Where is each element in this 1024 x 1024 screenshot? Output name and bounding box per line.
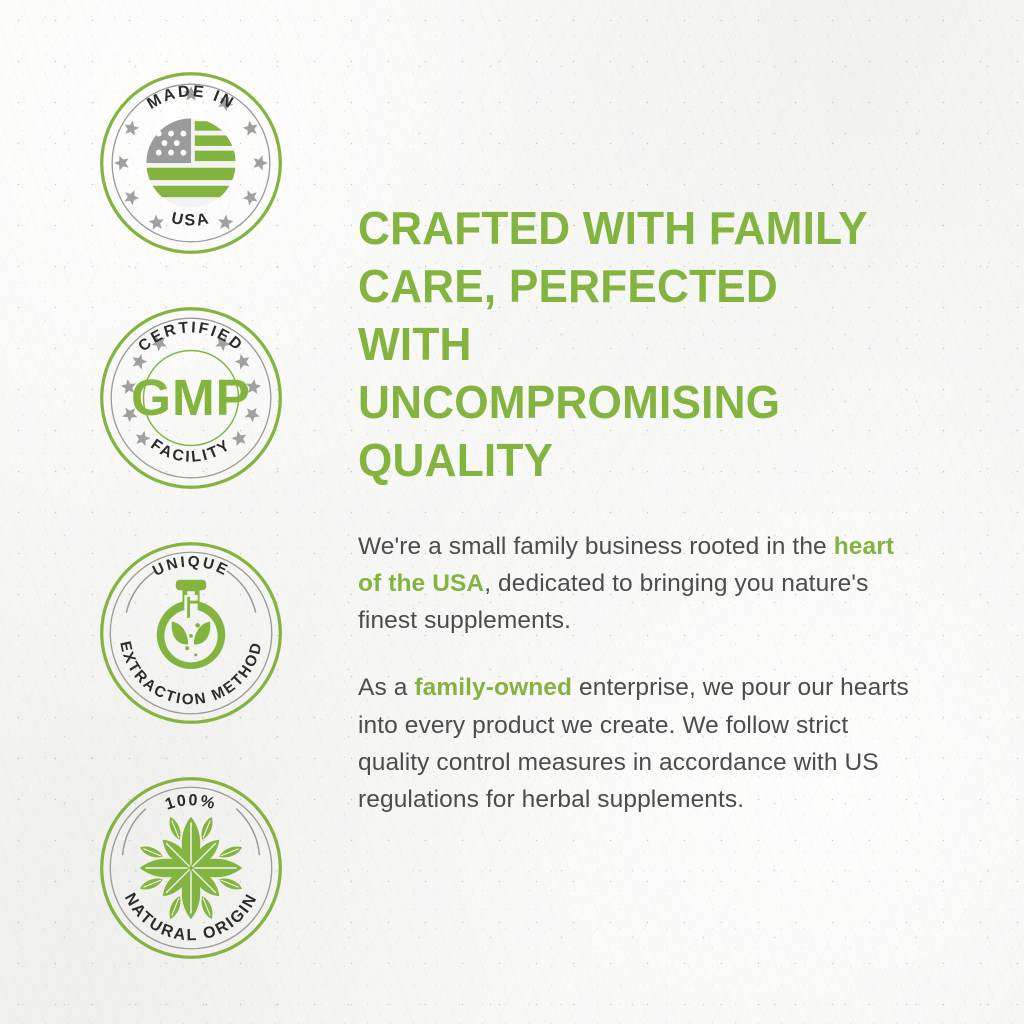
badge-natural-origin: 100% NATURAL ORIGIN: [96, 773, 286, 963]
promo-panel: MADE IN USA: [0, 0, 1024, 1024]
badge-top-label: 100%: [163, 791, 219, 813]
badge-center-label: GMP: [131, 369, 251, 426]
badge-bottom-label: FACILITY: [147, 436, 234, 466]
body-text: We're a small family business rooted in …: [358, 533, 834, 560]
body-paragraph-2: As a family-owned enterprise, we pour ou…: [358, 669, 918, 818]
trust-badge-column: MADE IN USA: [96, 68, 286, 963]
body-paragraph-1: We're a small family business rooted in …: [358, 528, 918, 640]
badge-bottom-label: USA: [170, 209, 213, 230]
badge-unique-extraction-method: UNIQUE EXTRACTION METHOD: [96, 538, 286, 728]
body-text: As a: [358, 674, 414, 701]
leaf-rosette-icon: [138, 815, 243, 920]
flask-leaf-icon: [157, 580, 225, 669]
badge-gmp-certified-facility: GMP CERTIFIED FACILITY: [96, 303, 286, 493]
page-title: CRAFTED WITH FAMILY CARE, PERFECTED WITH…: [358, 200, 896, 490]
badge-top-label: MADE IN: [144, 82, 238, 113]
emphasis-text: family-owned: [414, 674, 572, 701]
usa-flag-circle-icon: [144, 118, 239, 207]
badge-made-in-usa: MADE IN USA: [96, 68, 286, 258]
content-column: CRAFTED WITH FAMILY CARE, PERFECTED WITH…: [358, 200, 918, 818]
